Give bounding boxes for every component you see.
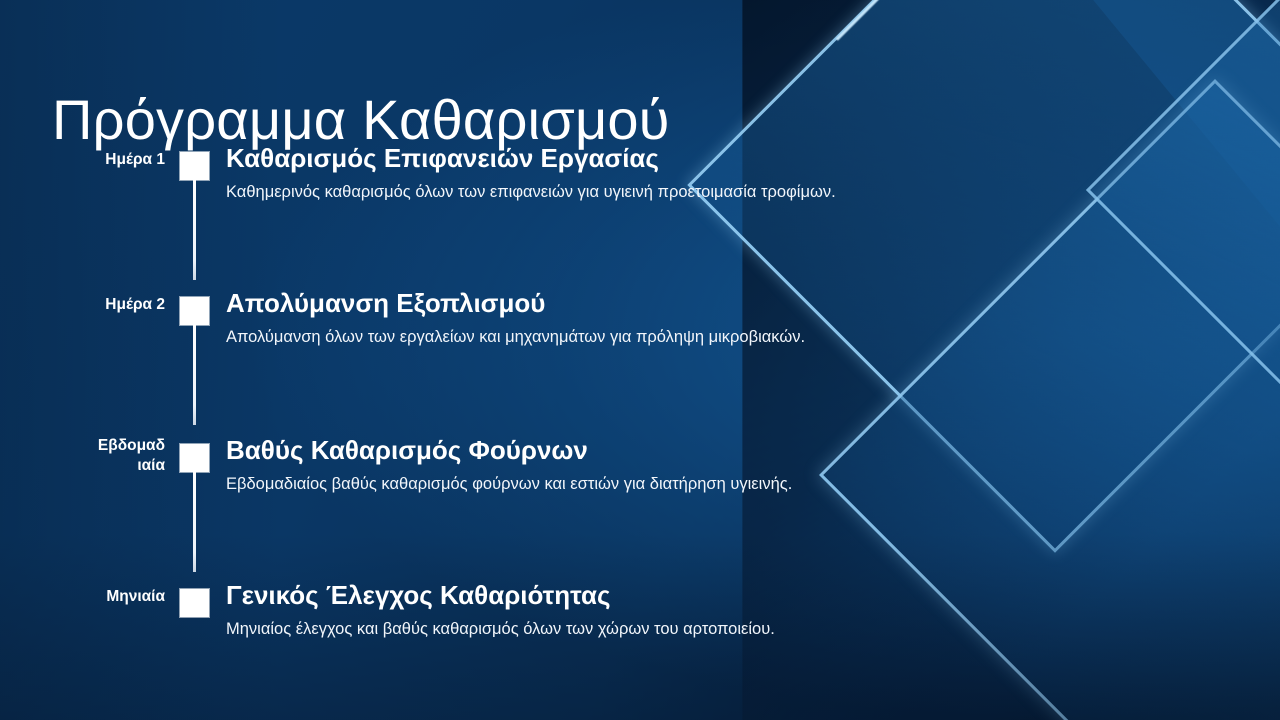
square-marker-icon	[180, 297, 209, 325]
timeline-item-2-marker-column	[165, 285, 223, 325]
square-marker-icon	[180, 152, 209, 180]
timeline-item-1-label: Ημέρα 1	[55, 140, 165, 170]
timeline-item-4-description: Μηνιαίος έλεγχος και βαθύς καθαρισμός όλ…	[226, 619, 1000, 640]
timeline-item-3-description: Εβδομαδιαίος βαθύς καθαρισμός φούρνων κα…	[226, 474, 1000, 495]
timeline-item-4-label: Μηνιαία	[55, 577, 165, 607]
timeline-item-1-marker-column	[165, 140, 223, 180]
timeline-item-2-heading: Απολύμανση Εξοπλισμού	[226, 288, 1000, 318]
timeline-item-2-label: Ημέρα 2	[55, 285, 165, 315]
timeline-item-3: Εβδομαδ ιαία Βαθύς Καθαρισμός Φούρνων Εβ…	[0, 432, 1000, 577]
timeline-connector-line	[193, 180, 196, 280]
timeline-item-2-body: Απολύμανση Εξοπλισμού Απολύμανση όλων τω…	[223, 285, 1000, 349]
timeline-item-4: Μηνιαία Γενικός Έλεγχος Καθαριότητας Μην…	[0, 577, 1000, 667]
timeline-item-3-label: Εβδομαδ ιαία	[55, 432, 165, 476]
timeline-item-3-label-line-2: ιαία	[55, 456, 165, 476]
timeline-item-1-body: Καθαρισμός Επιφανειών Εργασίας Καθημεριν…	[223, 140, 1000, 204]
timeline-item-2-description: Απολύμανση όλων των εργαλείων και μηχανη…	[226, 327, 1000, 348]
timeline-item-3-body: Βαθύς Καθαρισμός Φούρνων Εβδομαδιαίος βα…	[223, 432, 1000, 496]
timeline-item-2: Ημέρα 2 Απολύμανση Εξοπλισμού Απολύμανση…	[0, 285, 1000, 432]
timeline-item-1-heading: Καθαρισμός Επιφανειών Εργασίας	[226, 143, 1000, 173]
timeline-item-3-heading: Βαθύς Καθαρισμός Φούρνων	[226, 435, 1000, 465]
square-marker-icon	[180, 444, 209, 472]
timeline-list: Ημέρα 1 Καθαρισμός Επιφανειών Εργασίας Κ…	[0, 140, 1000, 667]
timeline-connector-line	[193, 472, 196, 572]
timeline-item-1-description: Καθημερινός καθαρισμός όλων των επιφανει…	[226, 182, 1000, 203]
timeline-item-4-heading: Γενικός Έλεγχος Καθαριότητας	[226, 580, 1000, 610]
square-marker-icon	[180, 589, 209, 617]
timeline-item-4-body: Γενικός Έλεγχος Καθαριότητας Μηνιαίος έλ…	[223, 577, 1000, 641]
slide-canvas: Πρόγραμμα Καθαρισμού Ημέρα 1 Καθαρισμός …	[0, 0, 1280, 720]
timeline-item-3-marker-column	[165, 432, 223, 472]
timeline-item-1: Ημέρα 1 Καθαρισμός Επιφανειών Εργασίας Κ…	[0, 140, 1000, 285]
timeline-item-3-label-line-1: Εβδομαδ	[55, 436, 165, 456]
timeline-connector-line	[193, 325, 196, 425]
timeline-item-4-marker-column	[165, 577, 223, 617]
